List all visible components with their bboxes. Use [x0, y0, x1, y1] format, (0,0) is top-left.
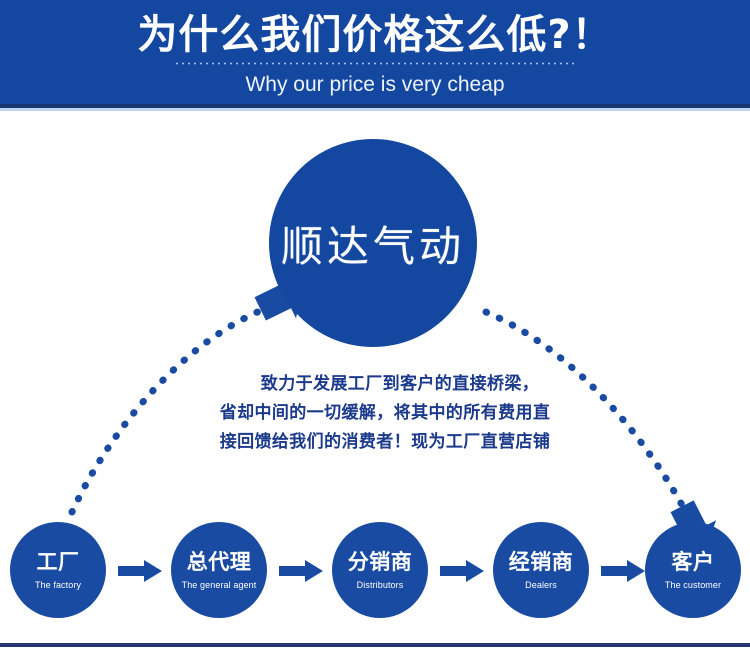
- flow-node-label-en: The customer: [665, 579, 721, 591]
- flow-node-distributors[interactable]: 分销商 Distributors: [332, 522, 428, 618]
- flow-node-label-cn: 客户: [672, 550, 715, 574]
- promo-banner: 为什么我们价格这么低?！ Why our price is very cheap…: [0, 0, 750, 650]
- flow-node-dealers[interactable]: 经销商 Dealers: [493, 522, 589, 618]
- title-dotted-divider: [174, 62, 576, 65]
- flow-arrow-right-icon-3: [440, 560, 484, 582]
- flow-arrow-right-icon-2: [279, 560, 323, 582]
- flow-node-label-cn: 总代理: [187, 550, 252, 574]
- message-line-3: 接回馈给我们的消费者！现为工厂直营店铺: [205, 428, 565, 457]
- flow-node-general-agent[interactable]: 总代理 The general agent: [171, 522, 267, 618]
- supply-chain-flow: 工厂 The factory 总代理 The general agent 分销商…: [0, 522, 750, 620]
- flow-node-label-cn: 分销商: [348, 550, 413, 574]
- message-line-1: 致力于发展工厂到客户的直接桥梁，: [205, 370, 565, 399]
- message-line-2: 省却中间的一切缓解，将其中的所有费用直: [205, 399, 565, 428]
- flow-node-label-cn: 工厂: [37, 550, 80, 574]
- flow-node-label-en: The general agent: [182, 579, 257, 591]
- flow-arrow-right-icon-1: [118, 560, 162, 582]
- flow-arrow-right-icon-4: [601, 560, 645, 582]
- page-title: 为什么我们价格这么低?！: [0, 12, 750, 58]
- flow-node-customer[interactable]: 客户 The customer: [645, 522, 741, 618]
- flow-node-label-en: Dealers: [525, 579, 557, 591]
- footer-rule: [0, 643, 750, 647]
- header-band: 为什么我们价格这么低?！ Why our price is very cheap: [0, 0, 750, 108]
- value-proposition-text: 致力于发展工厂到客户的直接桥梁， 省却中间的一切缓解，将其中的所有费用直 接回馈…: [205, 370, 565, 457]
- page-subtitle: Why our price is very cheap: [0, 70, 750, 100]
- flow-node-label-en: The factory: [35, 579, 81, 591]
- header-light-divider: [0, 108, 750, 111]
- brand-circle: 顺达气动: [269, 139, 477, 347]
- flow-node-label-cn: 经销商: [509, 550, 574, 574]
- flow-node-factory[interactable]: 工厂 The factory: [10, 522, 106, 618]
- brand-name: 顺达气动: [269, 139, 477, 347]
- flow-node-label-en: Distributors: [357, 579, 404, 591]
